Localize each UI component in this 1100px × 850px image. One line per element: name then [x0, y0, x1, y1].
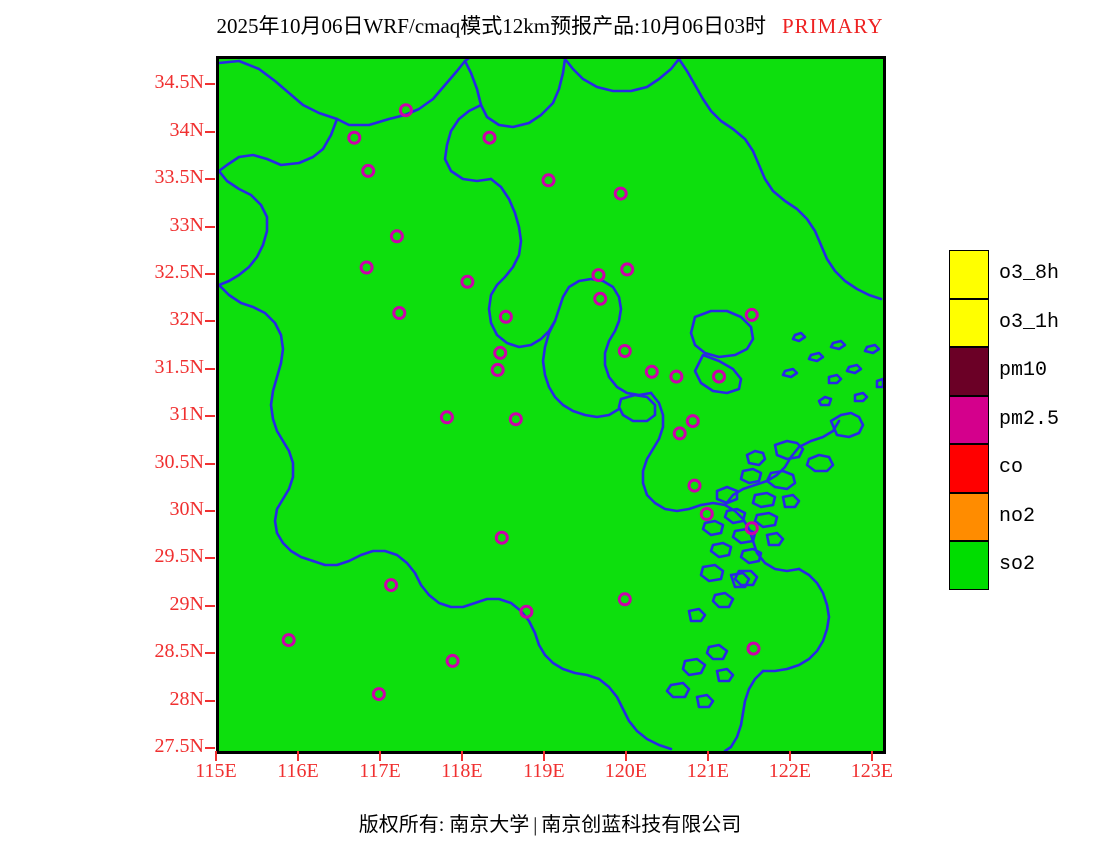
- x-axis-tick-mark: [625, 751, 627, 761]
- x-axis-tick-label: 117E: [340, 760, 420, 783]
- page-title: 2025年10月06日WRF/cmaq模式12km预报产品:10月06日03时P…: [0, 10, 1100, 40]
- y-axis-tick-label: 32N: [120, 308, 204, 331]
- legend-color-swatch: [949, 541, 989, 590]
- y-axis-tick-mark: [205, 463, 215, 465]
- map-canvas: [219, 59, 883, 751]
- footer-copyright-text: 版权所有: 南京大学: [359, 814, 530, 836]
- y-axis-tick-mark: [205, 747, 215, 749]
- x-axis-tick-label: 115E: [176, 760, 256, 783]
- y-axis-tick-mark: [205, 226, 215, 228]
- x-axis-tick-mark: [215, 751, 217, 761]
- y-axis-tick-label: 30.5N: [120, 451, 204, 474]
- x-axis-tick-label: 118E: [422, 760, 502, 783]
- y-axis-tick-label: 27.5N: [120, 735, 204, 758]
- y-axis-tick-mark: [205, 510, 215, 512]
- footer-company-text: 南京创蓝科技有限公司: [541, 814, 741, 836]
- y-axis-tick-mark: [205, 557, 215, 559]
- x-axis-tick-label: 122E: [750, 760, 830, 783]
- x-axis-tick-mark: [461, 751, 463, 761]
- y-axis-tick-label: 33N: [120, 214, 204, 237]
- y-axis-tick-label: 34.5N: [120, 71, 204, 94]
- y-axis-tick-mark: [205, 273, 215, 275]
- legend-color-swatch: [949, 347, 989, 396]
- y-axis-tick-label: 28N: [120, 688, 204, 711]
- x-axis-tick-mark: [297, 751, 299, 761]
- x-axis-tick-mark: [871, 751, 873, 761]
- legend-item-label: co: [999, 456, 1023, 479]
- y-axis-tick-mark: [205, 605, 215, 607]
- x-axis-tick-label: 123E: [832, 760, 912, 783]
- y-axis-tick-mark: [205, 700, 215, 702]
- y-axis-tick-label: 33.5N: [120, 166, 204, 189]
- y-axis-tick-mark: [205, 415, 215, 417]
- y-axis-tick-mark: [205, 652, 215, 654]
- x-axis-tick-mark: [543, 751, 545, 761]
- y-axis-tick-label: 29.5N: [120, 545, 204, 568]
- legend-item-label: pm2.5: [999, 408, 1059, 431]
- legend-color-swatch: [949, 250, 989, 299]
- legend-color-swatch: [949, 396, 989, 445]
- title-main-text: 2025年10月06日WRF/cmaq模式12km预报产品:10月06日03时: [216, 14, 766, 38]
- map-background: [219, 59, 883, 751]
- footer-copyright: 版权所有: 南京大学|南京创蓝科技有限公司: [0, 808, 1100, 837]
- legend-item-label: o3_1h: [999, 311, 1059, 334]
- legend-color-swatch: [949, 493, 989, 542]
- y-axis-tick-mark: [205, 320, 215, 322]
- y-axis-tick-label: 28.5N: [120, 640, 204, 663]
- x-axis-tick-mark: [789, 751, 791, 761]
- y-axis-tick-mark: [205, 83, 215, 85]
- legend-item-label: no2: [999, 505, 1035, 528]
- y-axis-tick-label: 30N: [120, 498, 204, 521]
- y-axis-tick-mark: [205, 178, 215, 180]
- y-axis-tick-mark: [205, 131, 215, 133]
- legend-item-label: o3_8h: [999, 262, 1059, 285]
- x-axis-tick-label: 119E: [504, 760, 584, 783]
- y-axis-tick-mark: [205, 368, 215, 370]
- y-axis-tick-label: 34N: [120, 119, 204, 142]
- y-axis-tick-label: 31N: [120, 403, 204, 426]
- x-axis-tick-label: 116E: [258, 760, 338, 783]
- y-axis-tick-label: 32.5N: [120, 261, 204, 284]
- legend-item-label: so2: [999, 553, 1035, 576]
- title-primary-badge: PRIMARY: [782, 14, 884, 38]
- legend-color-swatch: [949, 444, 989, 493]
- y-axis-tick-label: 31.5N: [120, 356, 204, 379]
- x-axis-tick-mark: [379, 751, 381, 761]
- x-axis-tick-mark: [707, 751, 709, 761]
- legend-item-label: pm10: [999, 359, 1047, 382]
- x-axis-tick-label: 121E: [668, 760, 748, 783]
- x-axis-tick-label: 120E: [586, 760, 666, 783]
- y-axis-tick-label: 29N: [120, 593, 204, 616]
- map-plot-area[interactable]: [216, 56, 886, 754]
- legend-color-swatch: [949, 299, 989, 348]
- footer-separator: |: [529, 814, 541, 836]
